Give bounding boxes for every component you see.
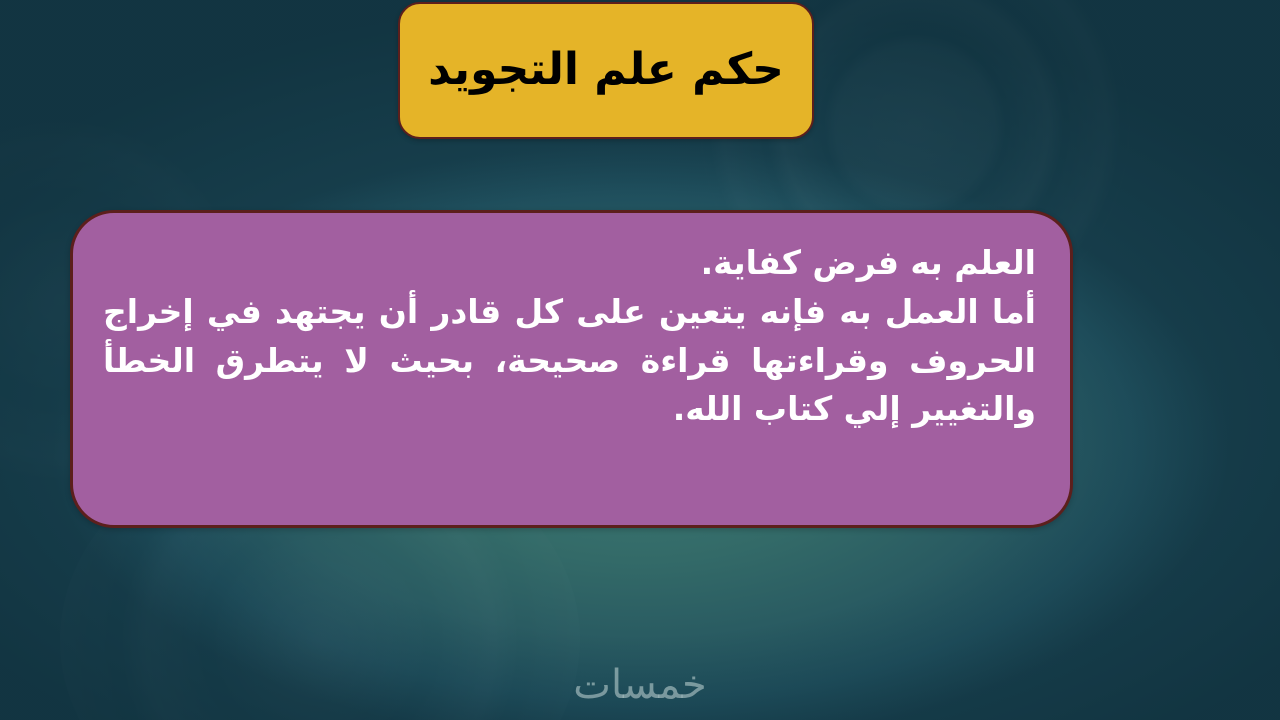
slide-content-panel: العلم به فرض كفاية. أما العمل به فإنه يت…	[70, 210, 1073, 528]
content-line-2: أما العمل به فإنه يتعين على كل قادر أن ي…	[103, 288, 1036, 434]
slide-title-banner: حكم علم التجويد	[398, 2, 814, 139]
content-line-1: العلم به فرض كفاية.	[103, 239, 1036, 288]
presentation-slide: حكم علم التجويد العلم به فرض كفاية. أما …	[0, 0, 1280, 720]
watermark-text: خمسات	[573, 662, 706, 708]
slide-title-text: حكم علم التجويد	[428, 45, 784, 96]
watermark: خمسات	[0, 662, 1280, 708]
